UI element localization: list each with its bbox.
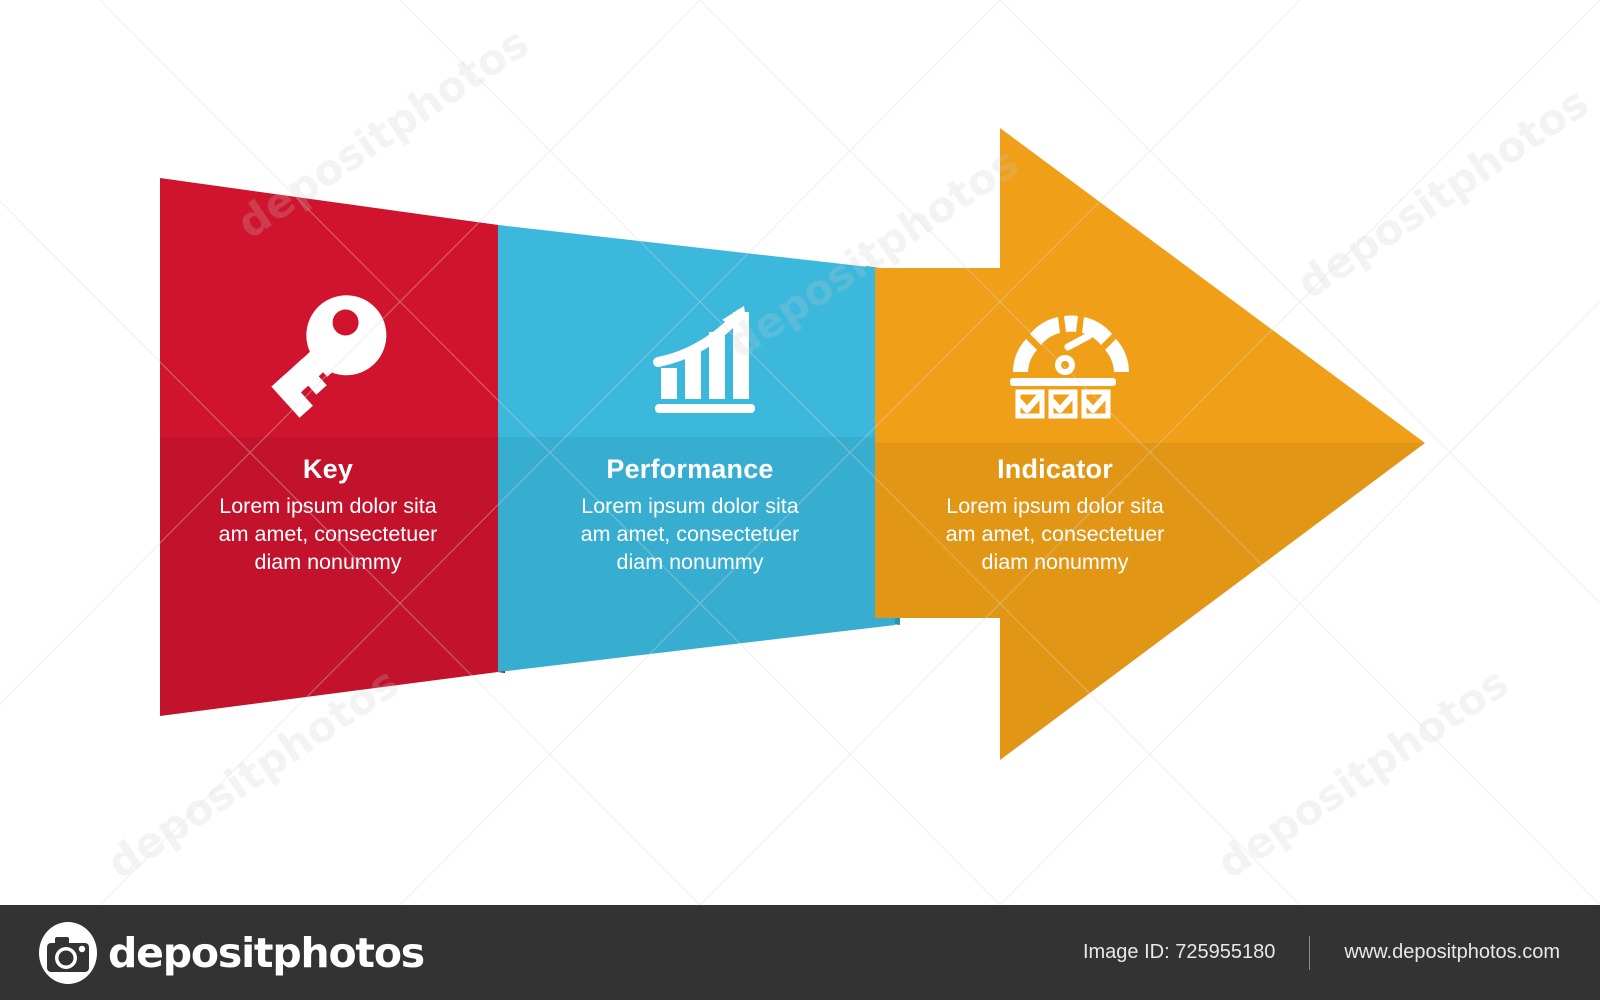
footer-watermark-bar: depositphotos Image ID: 725955180 www.de… bbox=[0, 905, 1600, 1000]
footer-brand-wordmark: depositphotos bbox=[108, 929, 424, 977]
footer-image-id: Image ID: 725955180 bbox=[1083, 941, 1275, 964]
segment-shape-indicator[interactable] bbox=[860, 128, 1440, 773]
infographic-canvas: depositphotos depositphotos depositphoto… bbox=[0, 0, 1600, 1000]
segment-shape-performance[interactable] bbox=[490, 225, 910, 687]
camera-icon bbox=[38, 922, 98, 984]
footer-meta: Image ID: 725955180 www.depositphotos.co… bbox=[1083, 936, 1560, 970]
footer-website-url[interactable]: www.depositphotos.com bbox=[1344, 941, 1560, 964]
red-panel-lower-band bbox=[150, 437, 510, 727]
arrow-process-diagram bbox=[0, 0, 1600, 905]
blue-panel-lower-band bbox=[490, 437, 910, 687]
footer-divider bbox=[1309, 936, 1310, 970]
segment-shape-key[interactable] bbox=[150, 178, 510, 727]
footer-brand[interactable]: depositphotos bbox=[38, 922, 424, 984]
orange-arrow-lower-band bbox=[860, 443, 1440, 773]
